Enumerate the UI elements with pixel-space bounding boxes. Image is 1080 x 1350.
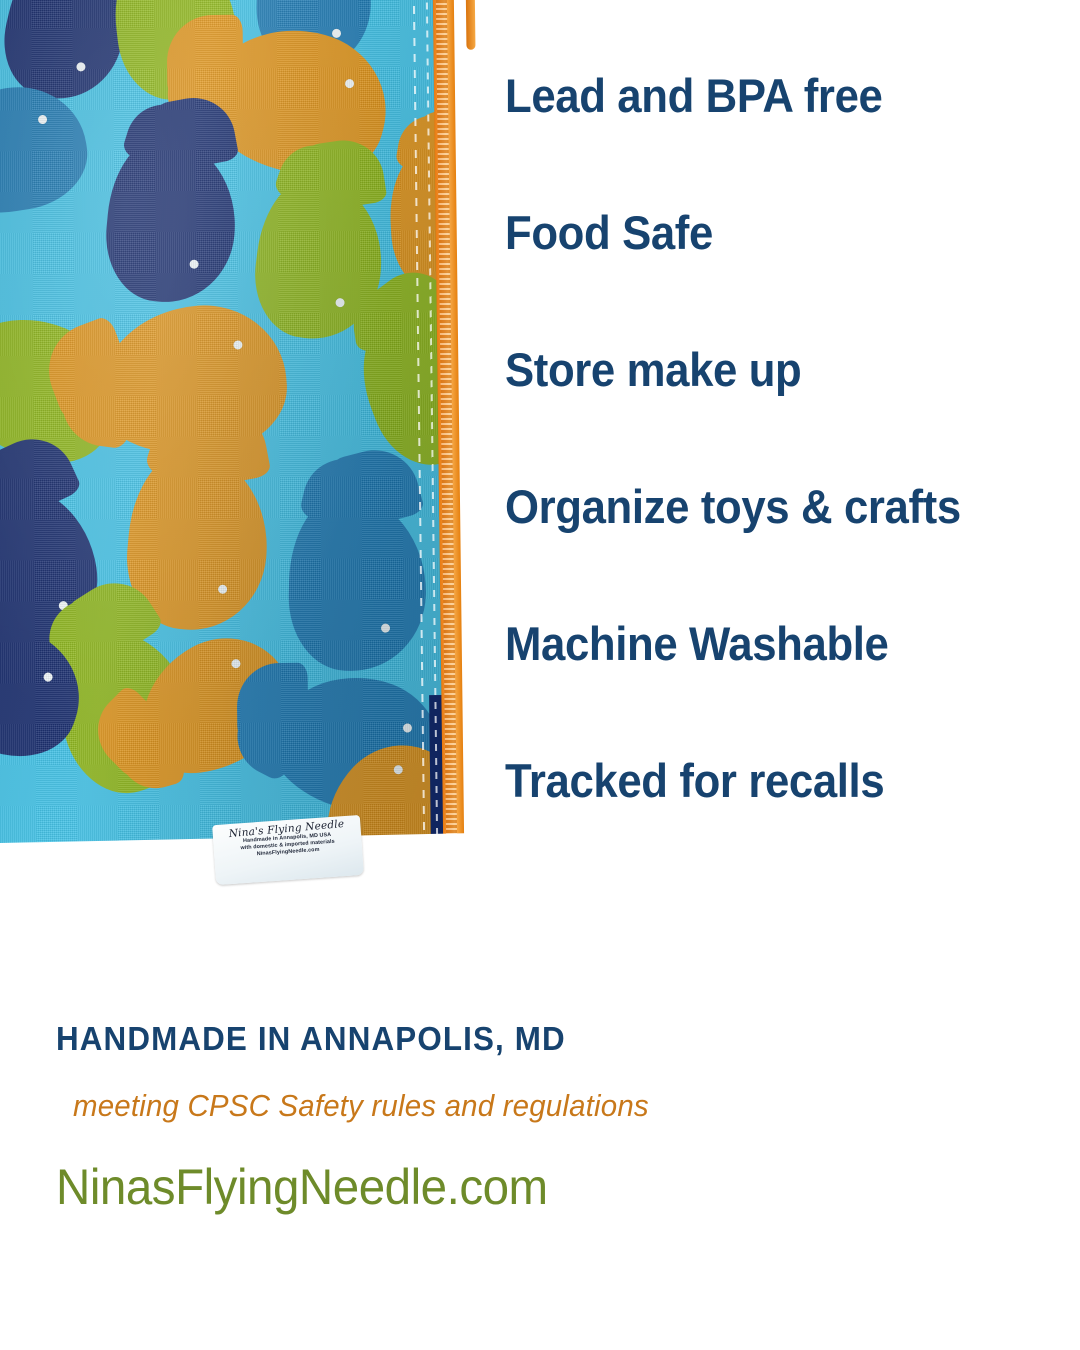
feature-list: Lead and BPA free Food Safe Store make u… bbox=[505, 72, 1045, 894]
feature-item-tracked-recalls: Tracked for recalls bbox=[505, 757, 1007, 894]
feature-item-lead-bpa-free: Lead and BPA free bbox=[505, 72, 1007, 209]
whale-motif bbox=[248, 493, 428, 673]
product-photo: Nina's Flying Needle Handmade in Annapol… bbox=[0, 0, 472, 845]
brand-label-tag: Nina's Flying Needle Handmade in Annapol… bbox=[212, 815, 364, 885]
branding-block: HANDMADE IN ANNAPOLIS, MD meeting CPSC S… bbox=[56, 1020, 1036, 1216]
feature-item-store-make-up: Store make up bbox=[505, 346, 1007, 483]
whale-motif bbox=[64, 130, 242, 308]
zipper-pull bbox=[466, 0, 476, 50]
pouch-fabric bbox=[0, 0, 449, 845]
website-url[interactable]: NinasFlyingNeedle.com bbox=[56, 1158, 987, 1216]
feature-item-food-safe: Food Safe bbox=[505, 209, 1007, 346]
cpsc-compliance-text: meeting CPSC Safety rules and regulation… bbox=[73, 1088, 988, 1124]
handmade-location-text: HANDMADE IN ANNAPOLIS, MD bbox=[56, 1020, 987, 1058]
feature-item-machine-washable: Machine Washable bbox=[505, 620, 1007, 757]
zipper bbox=[425, 0, 480, 850]
feature-item-organize-toys: Organize toys & crafts bbox=[505, 483, 1007, 620]
